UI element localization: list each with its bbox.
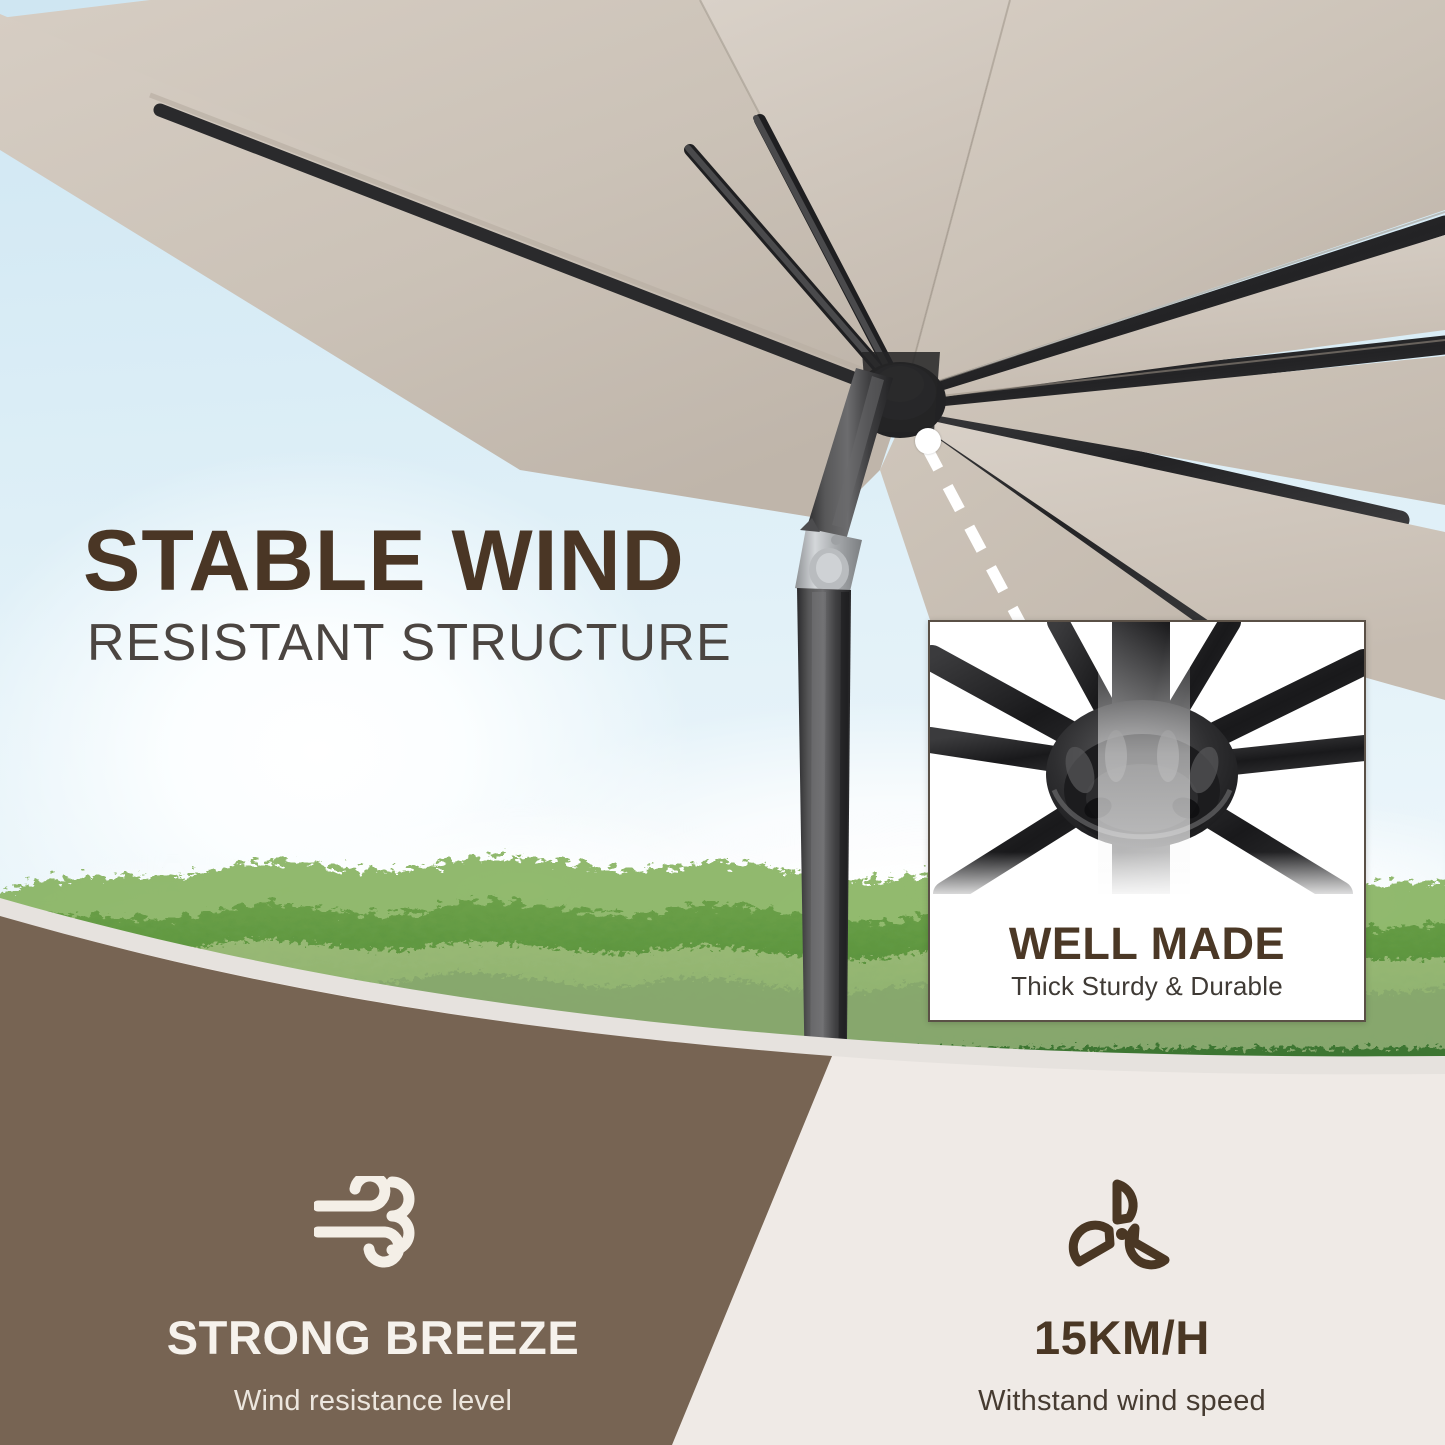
inset-title: WELL MADE [930,920,1364,967]
feature-wind-speed: 15KM/H Withstand wind speed [842,1168,1402,1418]
feature-right-subtitle: Withstand wind speed [842,1385,1402,1418]
headline-secondary: RESISTANT STRUCTURE [87,617,843,669]
feature-left-title: STRONG BREEZE [93,1310,653,1365]
feature-right-title: 15KM/H [842,1310,1402,1365]
umbrella-main-pole [797,588,851,1150]
fan-propeller-icon [842,1168,1402,1280]
wind-gust-icon [93,1168,653,1280]
well-made-inset-card: WELL MADE Thick Sturdy & Durable [928,620,1366,1022]
product-feature-banner: WELL MADE Thick Sturdy & Durable STABLE … [0,0,1445,1445]
inset-photo-fade [930,852,1364,922]
headline-primary: STABLE WIND [83,519,843,603]
headline-block: STABLE WIND RESISTANT STRUCTURE [83,519,843,669]
callout-marker-dot [915,428,941,454]
inset-subtitle: Thick Sturdy & Durable [930,971,1364,1002]
feature-left-subtitle: Wind resistance level [93,1385,653,1418]
feature-strong-breeze: STRONG BREEZE Wind resistance level [93,1168,653,1418]
